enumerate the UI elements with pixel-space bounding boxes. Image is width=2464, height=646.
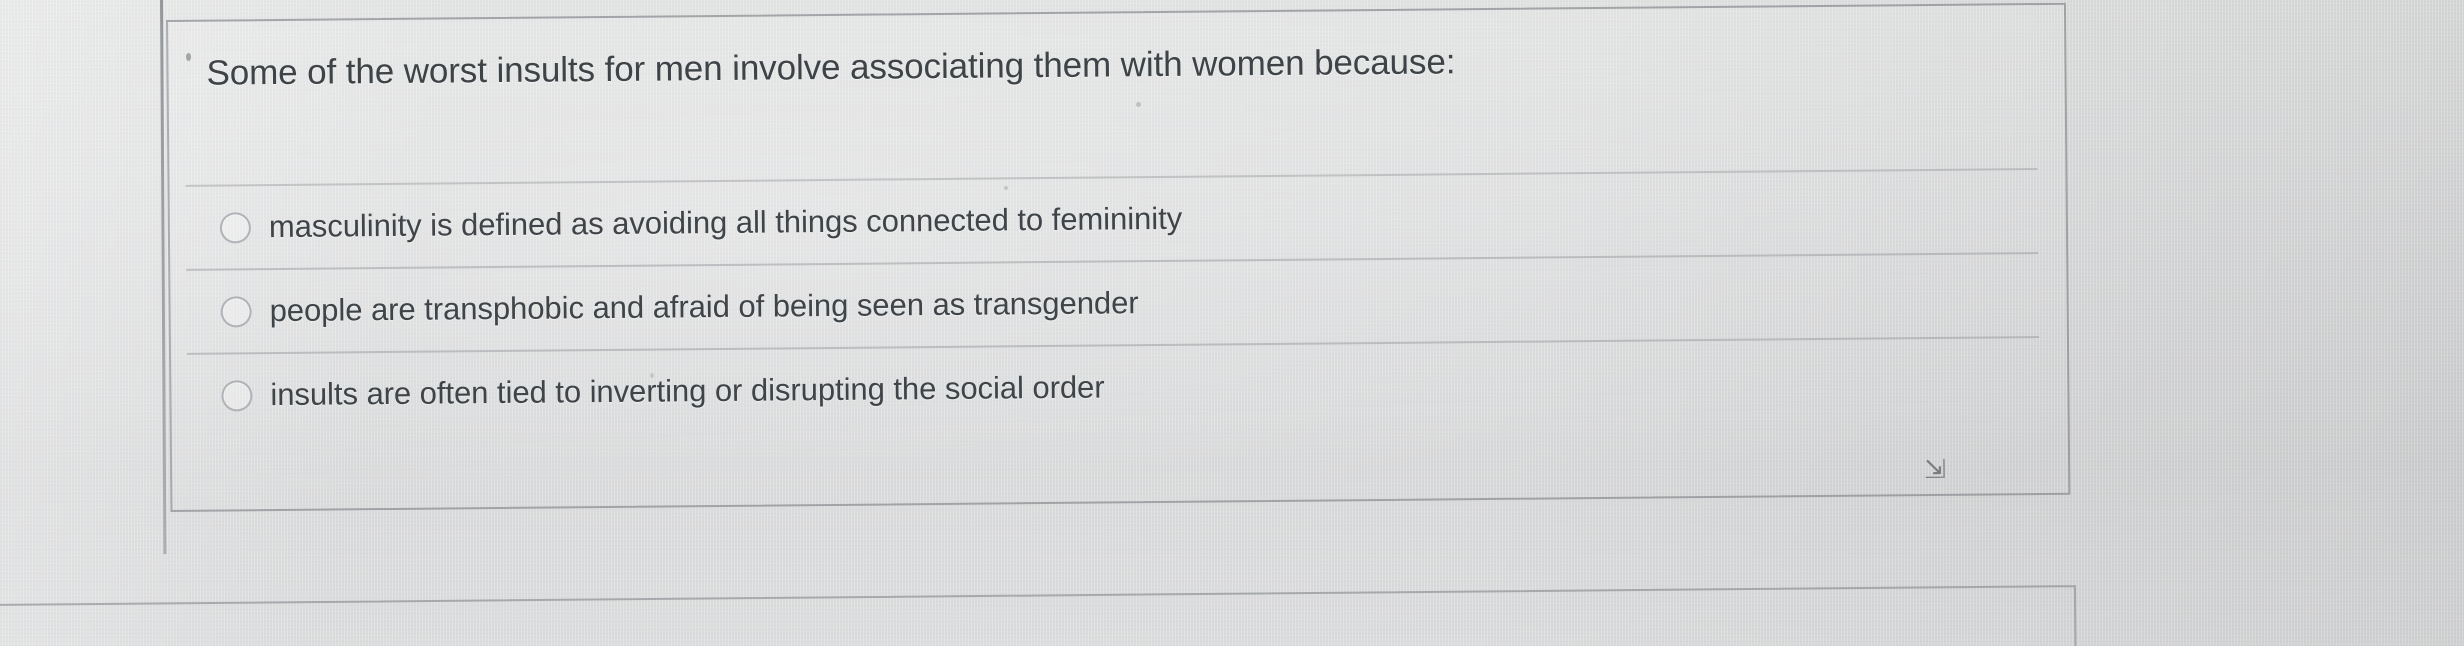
answer-option-3[interactable]: insults are often tied to inverting or d… xyxy=(187,336,2040,437)
answer-option-label: insults are often tied to inverting or d… xyxy=(270,369,1104,414)
question-card-frame: Some of the worst insults for men involv… xyxy=(166,3,2070,512)
radio-button-icon[interactable] xyxy=(221,380,252,411)
radio-button-icon[interactable] xyxy=(220,212,251,243)
question-card: Some of the worst insults for men involv… xyxy=(166,3,2070,512)
answer-option-label: people are transphobic and afraid of bei… xyxy=(269,285,1138,330)
screenshot-root: Some of the worst insults for men involv… xyxy=(0,0,2464,646)
resize-handle-icon[interactable]: ⇲ xyxy=(1924,456,1950,482)
radio-button-icon[interactable] xyxy=(221,296,252,327)
question-prompt: Some of the worst insults for men involv… xyxy=(206,36,1906,95)
answer-option-label: masculinity is defined as avoiding all t… xyxy=(269,200,1183,245)
answer-options-list: masculinity is defined as avoiding all t… xyxy=(185,168,2039,437)
